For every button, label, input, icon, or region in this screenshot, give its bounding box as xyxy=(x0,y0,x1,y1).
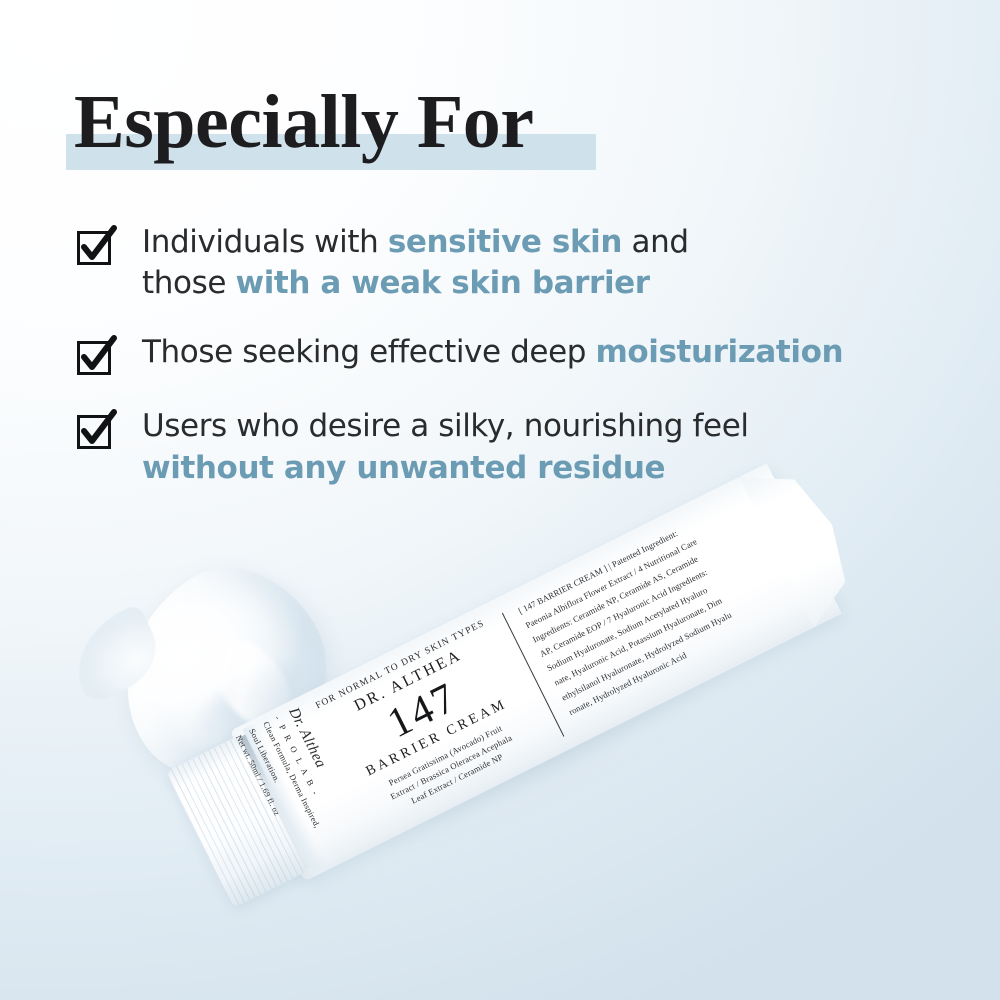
page-title-text: Especially For xyxy=(74,84,534,160)
checkbox-checked-icon xyxy=(74,410,116,452)
list-item: Individuals with sensitive skin and thos… xyxy=(74,222,954,304)
list-item: Users who desire a silky, nourishing fee… xyxy=(74,406,954,488)
text-highlight: with a weak skin barrier xyxy=(235,265,649,301)
checkbox-checked-icon xyxy=(74,336,116,378)
text-plain: and xyxy=(622,224,689,260)
text-highlight: moisturization xyxy=(595,334,843,370)
benefits-checklist: Individuals with sensitive skin and thos… xyxy=(74,222,954,489)
text-plain: those xyxy=(142,265,235,301)
text-plain: Those seeking effective deep xyxy=(142,334,595,370)
list-item: Those seeking effective deep moisturizat… xyxy=(74,332,954,378)
list-item-text: Those seeking effective deep moisturizat… xyxy=(142,332,843,373)
text-highlight: without any unwanted residue xyxy=(142,450,665,486)
list-item-text: Individuals with sensitive skin and thos… xyxy=(142,222,689,304)
text-plain: Users who desire a silky, nourishing fee… xyxy=(142,408,749,444)
text-highlight: sensitive skin xyxy=(388,224,622,260)
page-title: Especially For xyxy=(74,84,534,160)
text-plain: Individuals with xyxy=(142,224,388,260)
marketing-image-canvas: Especially For Individuals with sensitiv… xyxy=(0,0,1000,1000)
checkbox-checked-icon xyxy=(74,226,116,268)
